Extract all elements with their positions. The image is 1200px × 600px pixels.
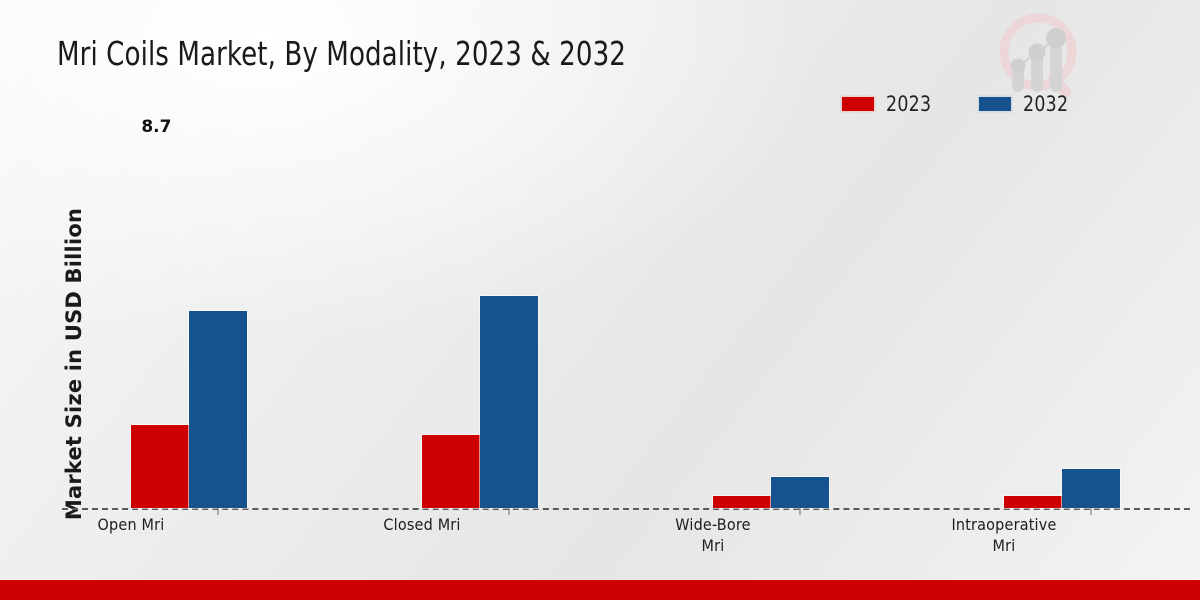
bar-chart-icon — [1012, 38, 1062, 92]
legend-item-2023[interactable]: 2023 — [841, 92, 935, 116]
bar-intraoperative-mri-2023[interactable] — [1004, 496, 1062, 508]
bar-group-open-mri: 8.7 Open Mri — [131, 140, 247, 508]
bar-open-mri-2023[interactable]: 8.7 — [131, 425, 189, 508]
bar-wrap-closed-mri-2023 — [422, 140, 480, 508]
x-axis-baseline — [62, 508, 1190, 510]
legend-swatch-2032 — [978, 96, 1012, 112]
x-label-closed-mri-line1: Closed Mri — [383, 515, 460, 534]
magnifier-icon — [1004, 18, 1074, 100]
x-label-closed-mri: Closed Mri — [327, 514, 517, 535]
bar-closed-mri-2032[interactable] — [480, 296, 538, 508]
trend-dots-icon — [1011, 28, 1067, 74]
bar-group-closed-mri: Closed Mri — [422, 140, 538, 508]
x-label-wide-bore-mri-line2: Mri — [702, 536, 725, 555]
x-label-wide-bore-mri-line1: Wide-Bore — [675, 515, 750, 534]
x-label-intraoperative-mri: Intraoperative Mri — [909, 514, 1099, 556]
bar-open-mri-2032[interactable] — [189, 311, 247, 508]
bar-value-label-open-mri-2023: 8.7 — [141, 117, 171, 137]
x-label-wide-bore-mri: Wide-Bore Mri — [618, 514, 808, 556]
bar-wrap-intraoperative-mri-2023 — [1004, 140, 1062, 508]
bar-wide-bore-mri-2032[interactable] — [771, 477, 829, 508]
x-label-open-mri-line1: Open Mri — [98, 515, 165, 534]
chart-canvas: Mri Coils Market, By Modality, 2023 & 20… — [0, 0, 1200, 600]
footer-accent-bar — [0, 580, 1200, 600]
legend-item-2032[interactable]: 2032 — [978, 92, 1072, 116]
chart-legend: 2023 2032 — [841, 92, 1072, 116]
bar-wrap-intraoperative-mri-2032 — [1062, 140, 1120, 508]
bar-wrap-open-mri-2032 — [189, 140, 247, 508]
bar-wrap-wide-bore-mri-2023 — [713, 140, 771, 508]
bar-group-intraoperative-mri: Intraoperative Mri — [1004, 140, 1120, 508]
bar-intraoperative-mri-2032[interactable] — [1062, 469, 1120, 508]
bar-group-wide-bore-mri: Wide-Bore Mri — [713, 140, 829, 508]
bar-wrap-closed-mri-2032 — [480, 140, 538, 508]
bar-wrap-wide-bore-mri-2032 — [771, 140, 829, 508]
x-label-open-mri: Open Mri — [36, 514, 226, 535]
chart-title: Mri Coils Market, By Modality, 2023 & 20… — [57, 34, 626, 73]
x-label-intraoperative-mri-line2: Mri — [993, 536, 1016, 555]
x-label-intraoperative-mri-line1: Intraoperative — [951, 515, 1056, 534]
bar-wrap-open-mri-2023: 8.7 — [131, 140, 189, 508]
legend-label-2032: 2032 — [1023, 92, 1068, 116]
legend-label-2023: 2023 — [886, 92, 931, 116]
legend-swatch-2023 — [841, 96, 875, 112]
plot-area: 8.7 Open Mri Closed Mri — [0, 140, 1200, 509]
bar-wide-bore-mri-2023[interactable] — [713, 496, 771, 508]
bar-closed-mri-2023[interactable] — [422, 435, 480, 508]
